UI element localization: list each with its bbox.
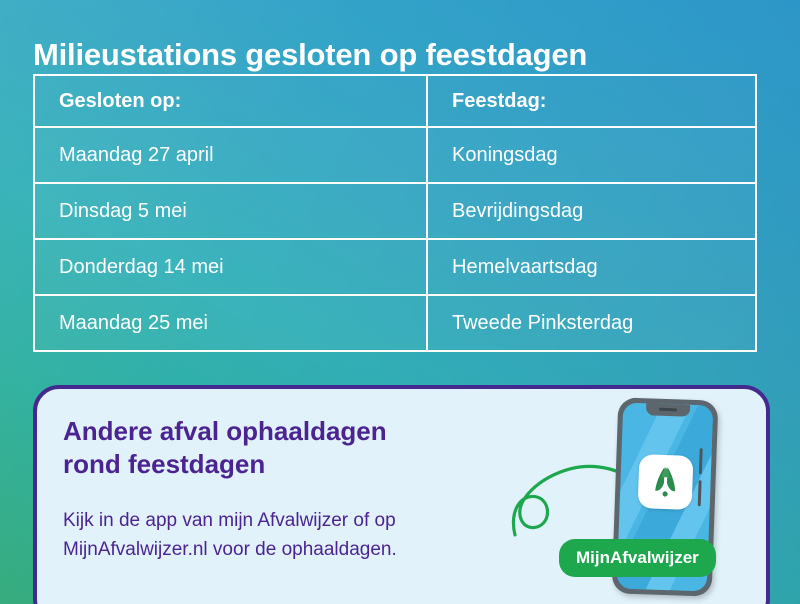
phone-illustration: MijnAfvalwijzer bbox=[597, 399, 727, 604]
info-card-heading-line1: Andere afval ophaaldagen bbox=[63, 416, 387, 446]
info-card-heading-line2: rond feestdagen bbox=[63, 449, 265, 479]
cell-closed-on: Dinsdag 5 mei bbox=[34, 183, 427, 239]
cell-holiday: Bevrijdingsdag bbox=[427, 183, 756, 239]
info-card-heading: Andere afval ophaaldagen rond feestdagen bbox=[63, 415, 543, 482]
app-name-badge: MijnAfvalwijzer bbox=[559, 539, 716, 577]
table-row: Dinsdag 5 mei Bevrijdingsdag bbox=[34, 183, 756, 239]
info-card-body-line1: Kijk in de app van mijn Afvalwijzer of o… bbox=[63, 510, 396, 531]
poster-canvas: Milieustations gesloten op feestdagen Ge… bbox=[0, 0, 800, 604]
column-header-closed-on: Gesloten op: bbox=[34, 75, 427, 127]
cell-holiday: Koningsdag bbox=[427, 127, 756, 183]
cell-holiday: Tweede Pinksterdag bbox=[427, 295, 756, 351]
column-header-holiday: Feestdag: bbox=[427, 75, 756, 127]
info-card-body: Kijk in de app van mijn Afvalwijzer of o… bbox=[63, 507, 533, 564]
afvalwijzer-app-icon[interactable] bbox=[638, 454, 694, 510]
cell-holiday: Hemelvaartsdag bbox=[427, 239, 756, 295]
info-card-body-line2: MijnAfvalwijzer.nl voor de ophaaldagen. bbox=[63, 539, 397, 560]
table-header-row: Gesloten op: Feestdag: bbox=[34, 75, 756, 127]
table-row: Donderdag 14 mei Hemelvaartsdag bbox=[34, 239, 756, 295]
cell-closed-on: Maandag 25 mei bbox=[34, 295, 427, 351]
holiday-closure-table: Gesloten op: Feestdag: Maandag 27 april … bbox=[33, 74, 757, 352]
cell-closed-on: Maandag 27 april bbox=[34, 127, 427, 183]
table-row: Maandag 27 april Koningsdag bbox=[34, 127, 756, 183]
phone-speaker-icon bbox=[659, 408, 677, 412]
table-row: Maandag 25 mei Tweede Pinksterdag bbox=[34, 295, 756, 351]
page-title: Milieustations gesloten op feestdagen bbox=[33, 37, 753, 73]
cell-closed-on: Donderdag 14 mei bbox=[34, 239, 427, 295]
leaf-a-logo-icon bbox=[646, 462, 685, 501]
info-card: Andere afval ophaaldagen rond feestdagen… bbox=[33, 385, 770, 604]
